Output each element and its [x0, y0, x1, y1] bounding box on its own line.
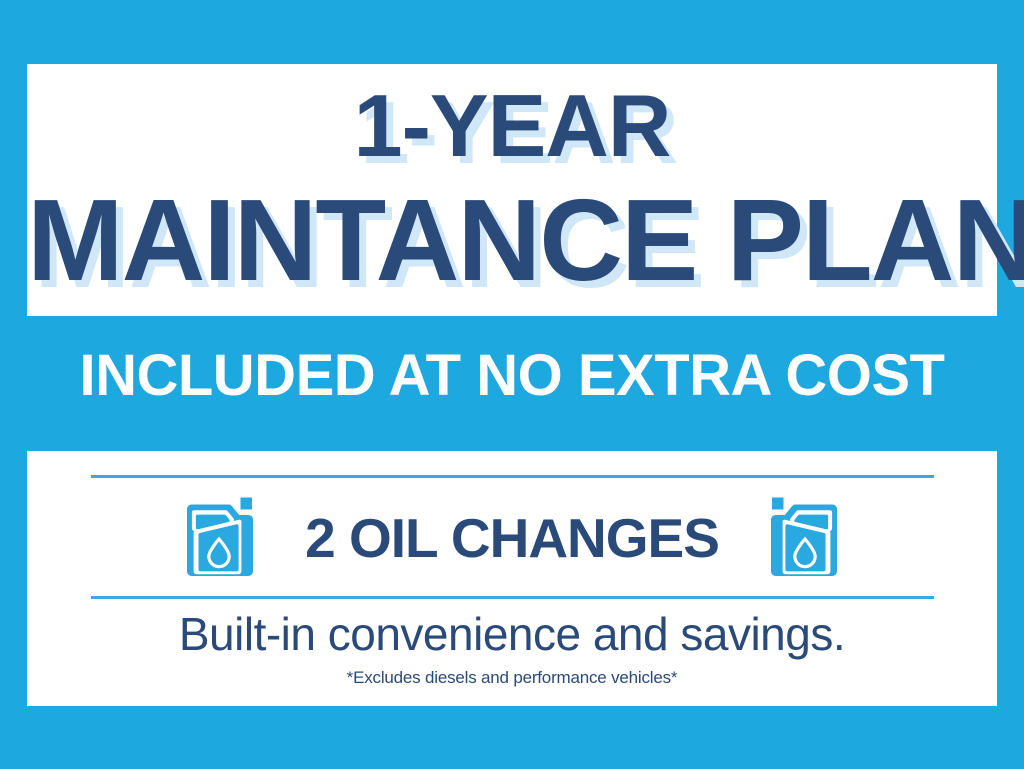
subtitle-banner: INCLUDED AT NO EXTRA COST	[0, 347, 1024, 405]
headline-line-1: 1-YEAR	[27, 82, 997, 170]
tagline: Built-in convenience and savings.	[27, 611, 997, 657]
headline-card: 1-YEAR MAINTANCE PLAN	[27, 64, 997, 316]
oil-changes-row: 2 OIL CHANGES	[27, 487, 997, 589]
details-card: 2 OIL CHANGES Built-in convenience and s…	[27, 451, 997, 706]
disclaimer: *Excludes diesels and performance vehicl…	[27, 669, 997, 686]
divider-top	[91, 475, 934, 478]
headline-line-2: MAINTANCE PLAN	[27, 182, 997, 298]
promo-poster: 1-YEAR MAINTANCE PLAN INCLUDED AT NO EXT…	[0, 0, 1024, 769]
divider-bottom	[91, 596, 934, 599]
oil-can-icon	[183, 494, 257, 582]
oil-can-icon	[767, 494, 841, 582]
oil-changes-label: 2 OIL CHANGES	[305, 511, 719, 566]
